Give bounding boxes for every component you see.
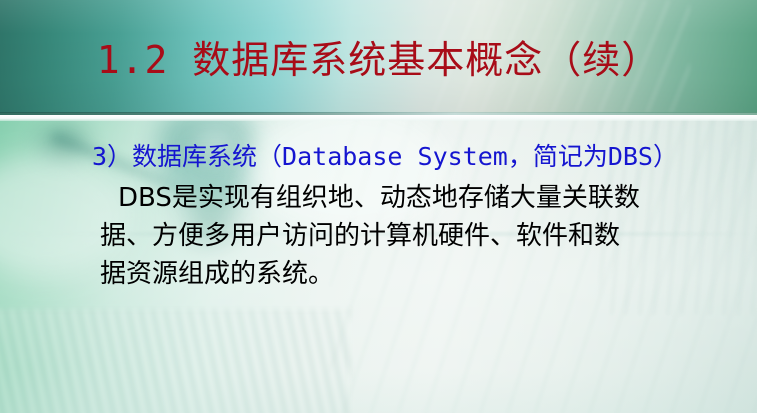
body-line-3: 据资源组成的系统。 bbox=[100, 255, 748, 293]
slide: 1.2 数据库系统基本概念（续） 3）数据库系统（Database System… bbox=[0, 0, 757, 413]
divider-light-rule bbox=[0, 115, 757, 121]
body-subheading: 3）数据库系统（Database System，简记为DBS） bbox=[92, 141, 678, 173]
body-line-1: DBS是实现有组织地、动态地存储大量关联数 bbox=[118, 179, 748, 217]
body-line-2: 据、方便多用户访问的计算机硬件、软件和数 bbox=[100, 217, 748, 255]
slide-title: 1.2 数据库系统基本概念（续） bbox=[0, 36, 757, 84]
body-paragraph: DBS是实现有组织地、动态地存储大量关联数 据、方便多用户访问的计算机硬件、软件… bbox=[118, 179, 748, 293]
